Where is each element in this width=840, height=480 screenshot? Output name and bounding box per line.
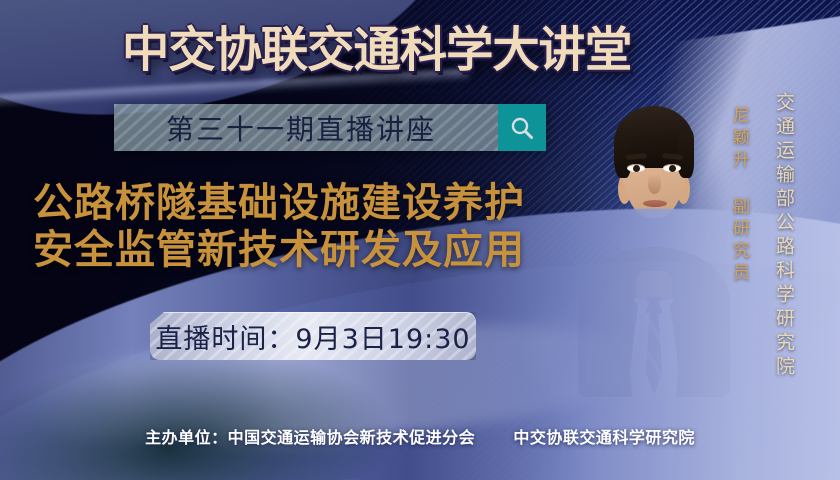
portrait-mouth [643, 200, 667, 207]
lecture-title-line2: 安全监管新技术研发及应用 [33, 227, 593, 274]
portrait-pupil-right [669, 165, 676, 172]
episode-label: 第三十一期直播讲座 [114, 104, 488, 151]
live-lecture-poster: 中交协联交通科学大讲堂 第三十一期直播讲座 公路桥隧基础设施建设养护 安全监管新… [0, 0, 840, 480]
portrait-pupil-left [633, 165, 640, 172]
lecture-title-line1: 公路桥隧基础设施建设养护 [33, 180, 593, 227]
episode-banner: 第三十一期直播讲座 [114, 104, 546, 151]
footer: 主办单位：中国交通运输协会新技术促进分会 中交协联交通科学研究院 [0, 424, 840, 448]
search-icon[interactable] [498, 104, 546, 151]
portrait-nose [648, 174, 661, 194]
page-title: 中交协联交通科学大讲堂 [122, 20, 680, 80]
speaker-name-title: 尼颖升 副研究员 [727, 106, 752, 285]
footer-organizer: 主办单位：中国交通运输协会新技术促进分会 [145, 428, 475, 447]
broadcast-time-badge: 直播时间：9月3日19:30 [150, 312, 476, 360]
lecture-title: 公路桥隧基础设施建设养护 安全监管新技术研发及应用 [33, 180, 593, 274]
speaker-organization: 交通运输部公路科学研究院 [771, 92, 798, 380]
broadcast-time-label: 直播时间：9月3日19:30 [150, 312, 476, 360]
footer-institute: 中交协联交通科学研究院 [513, 428, 695, 447]
